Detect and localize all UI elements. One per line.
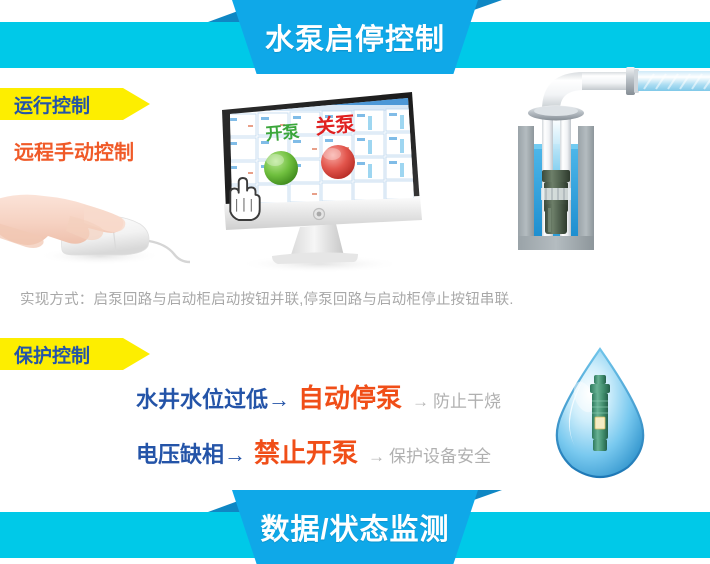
protection-action: 禁止开泵	[254, 433, 358, 470]
protection-control-tag-label: 保护控制	[14, 341, 90, 368]
bottom-banner: 数据/状态监测	[0, 490, 710, 564]
protection-rule-row: 水井水位过低 → 自动停泵 → 防止干烧	[136, 378, 501, 415]
protection-control-tag: 保护控制	[0, 338, 150, 370]
droplet-pump-body	[592, 393, 608, 439]
run-control-tag-label: 运行控制	[14, 91, 90, 118]
arrow-right-secondary-icon: →	[412, 392, 429, 412]
run-control-tag: 运行控制	[0, 88, 150, 120]
stop-pump-label: 关泵	[314, 112, 356, 139]
bottom-banner-title: 数据/状态监测	[232, 490, 478, 564]
implementation-note: 实现方式：启泵回路与启动柜启动按钮并联,停泵回路与启动柜停止按钮串联.	[20, 288, 514, 309]
hand-on-mouse-illustration	[0, 172, 190, 272]
protection-rule-row: 电压缺相 → 禁止开泵 → 保护设备安全	[136, 433, 491, 470]
water-droplet-with-pump-illustration	[540, 345, 660, 487]
protection-result: 保护设备安全	[389, 442, 491, 467]
well-wall-right	[578, 126, 594, 250]
arrow-right-icon: →	[224, 442, 246, 468]
horizontal-pipe	[582, 72, 630, 90]
desktop-monitor: 开泵 关泵	[208, 92, 423, 272]
protection-action: 自动停泵	[298, 378, 402, 415]
pipe-coupling-right	[626, 67, 635, 95]
arrow-right-secondary-icon: →	[368, 447, 385, 467]
protection-result: 防止干烧	[433, 387, 501, 412]
start-pump-label: 开泵	[265, 122, 301, 144]
remote-manual-control-label: 远程手动控制	[14, 136, 134, 165]
poster-page: 水泵启停控制 运行控制 远程手动控制	[0, 0, 710, 564]
well-wall-left	[518, 126, 534, 250]
protection-condition: 电压缺相	[136, 437, 224, 469]
arrow-right-icon: →	[268, 387, 290, 413]
well-bottom	[518, 236, 594, 250]
protection-condition: 水井水位过低	[136, 382, 268, 414]
submersible-well-pump-illustration	[498, 58, 710, 273]
submersible-pump	[541, 170, 571, 234]
top-banner-title: 水泵启停控制	[232, 0, 478, 74]
droplet-pump-label	[595, 417, 605, 429]
